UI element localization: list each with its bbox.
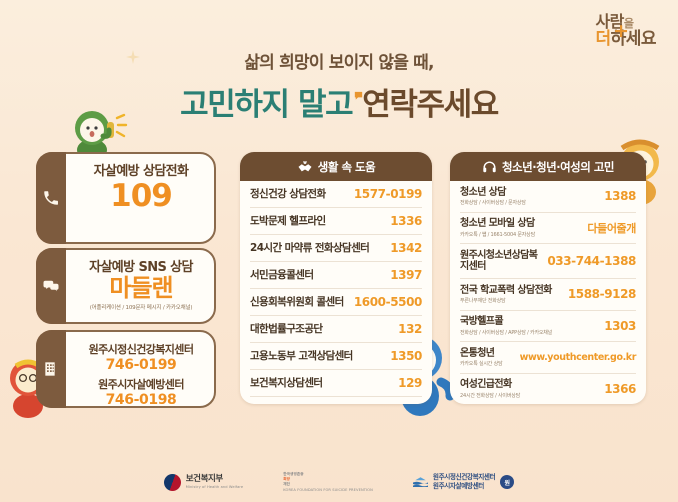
item-name: 원주시청소년상담복지센터 [460,250,541,273]
logo-name-post: 재단 [283,483,373,487]
item-name: 여성긴급전화 [460,379,520,391]
item-sub: 전화상담 / 사이버상담 / APP상담 / 카카오채널 [460,329,552,336]
card-wonju-centers[interactable]: 원주시정신건강복지센터 746-0199 원주시자살예방센터 746-0198 [36,330,216,408]
list-item[interactable]: 지역민원상담센터120 [250,397,422,404]
logo-name: 한국생명존중희망재단 [283,473,373,487]
item-name: 청소년 모바일 상담 [460,218,535,230]
center-phone-2: 746-0198 [76,392,206,408]
item-name: 국방헬프콜 [460,316,552,328]
infographic-poster: + 사람을 더하세요 삶의 희망이 보이지 않을 때, 고민하지 말고연락주세요 [0,0,678,502]
item-value: 다들어줄개 [587,220,636,236]
item-value: 1366 [604,382,636,396]
card-body: 원주시정신건강복지센터 746-0199 원주시자살예방센터 746-0198 [68,332,214,408]
item-value: 1303 [604,319,636,333]
card-title: 자살예방 SNS 상담 [76,256,206,275]
list-item[interactable]: 신용회복위원회 콜센터1600-5500 [250,289,422,316]
slogan: + 사람을 더하세요 [595,14,656,49]
handshake-icon [297,161,313,174]
item-value[interactable]: www.youthcenter.go.kr [520,352,636,363]
footer-logos: 보건복지부 Ministry of Health and Welfare 한국생… [0,472,678,492]
logo-name: 보건복지부 [186,475,244,484]
logo-sub: KOREA FOUNDATION FOR SUICIDE PREVENTION [283,488,373,492]
item-name: 온통청년 [460,348,502,360]
item-value: 1600-5500 [354,295,422,309]
item-value: 1350 [390,349,422,363]
list-item[interactable]: 여성긴급전화24시간 전화상담 / 사이버상담1366 [460,374,636,405]
chat-bubble-icon [42,277,60,295]
card-note: (어플리케이션 / 109문자 메시지 / 카카오채널) [76,303,206,311]
list-item[interactable]: 보건복지상담센터129 [250,370,422,397]
headline-subtitle: 삶의 희망이 보이지 않을 때, [0,48,678,73]
panel-daily-life-help: 생활 속 도움 정신건강 상담전화1577-0199 도박문제 헬프라인1336… [240,152,432,404]
panel-header-label: 생활 속 도움 [318,159,375,175]
item-sub: 전화상담 / 사이버상담 / 문자상담 [460,199,526,206]
card-suicide-hotline[interactable]: 자살예방 상담전화 109 [36,152,216,244]
item-sub: 카카오톡 실시간 상담 [460,360,502,367]
card-tab [36,248,66,324]
item-sub: 24시간 전화상담 / 사이버상담 [460,392,520,399]
phone-icon [42,189,60,207]
item-name: 고용노동부 고객상담센터 [250,350,353,362]
item-name: 전국 학교폭력 상담전화 [460,285,552,297]
item-name: 정신건강 상담전화 [250,188,326,200]
phone-accent-icon [353,90,364,101]
card-sns-counseling[interactable]: 자살예방 SNS 상담 마들랜 (어플리케이션 / 109문자 메시지 / 카카… [36,248,216,324]
item-sub: 푸른나무재단 전화상담 [460,297,552,304]
list-item[interactable]: 원주시청소년상담복지센터033-744-1388 [460,244,636,279]
panel-header: 청소년·청년·여성의 고민 [450,152,646,181]
logo-kfsp: 한국생명존중희망재단 KOREA FOUNDATION FOR SUICIDE … [283,472,373,492]
panel-header: 생활 속 도움 [240,152,432,181]
card-tab [36,330,66,408]
item-name: 도박문제 헬프라인 [250,215,326,227]
logo-mohw: 보건복지부 Ministry of Health and Welfare [164,474,244,491]
list-item[interactable]: 정신건강 상담전화1577-0199 [250,181,422,208]
item-value: 1588-9128 [568,287,636,301]
list-item[interactable]: 국방헬프콜전화상담 / 사이버상담 / APP상담 / 카카오채널1303 [460,311,636,343]
item-value: 1388 [604,189,636,203]
list-item[interactable]: 전국 학교폭력 상담전화푸른나무재단 전화상담1588-9128 [460,279,636,311]
headline-main-teal: 고민하지 말고 [180,87,352,123]
list-item[interactable]: 청소년 상담전화상담 / 사이버상담 / 문자상담1388 [460,181,636,213]
item-name: 24시간 마약류 전화상담센터 [250,242,369,254]
list-item[interactable]: 도박문제 헬프라인1336 [250,208,422,235]
sparkle-icon [126,50,140,64]
list-item[interactable]: 온통청년카카오톡 실시간 상담www.youthcenter.go.kr [460,342,636,374]
item-value: 120 [398,403,422,404]
logo-line-2: 원주시자살예방센터 [433,482,495,491]
logo-line-1: 원주시정신건강복지센터 [433,473,495,482]
center-name-1: 원주시정신건강복지센터 [76,341,206,357]
panel-header-label: 청소년·청년·여성의 고민 [502,159,614,175]
item-name: 신용회복위원회 콜센터 [250,296,344,308]
item-value: 1397 [390,268,422,282]
headset-icon [482,161,497,174]
item-value: 1577-0199 [354,187,422,201]
item-value: 033-744-1388 [547,254,636,268]
center-phone-1: 746-0199 [76,357,206,373]
item-value: 132 [398,322,422,336]
center-name-2: 원주시자살예방센터 [76,376,206,392]
list-item[interactable]: 청소년 모바일 상담카카오톡 / 썝 / 1661-5004 문자상담다들어줄개 [460,213,636,245]
list-item[interactable]: 고용노동부 고객상담센터1350 [250,343,422,370]
item-value: 129 [398,376,422,390]
slogan-word-deo: 더 [595,29,610,49]
item-value: 1342 [390,241,422,255]
list-item[interactable]: 24시간 마약류 전화상담센터1342 [250,235,422,262]
item-name: 청소년 상담 [460,187,526,199]
item-value: 1336 [390,214,422,228]
card-title: 자살예방 상담전화 [76,160,206,179]
logo-name-pre: 한국생명존중 [283,473,373,477]
card-brand-name: 마들랜 [76,276,206,301]
item-name: 보건복지상담센터 [250,377,322,389]
plus-icon: + [613,22,629,41]
headline-main-brown: 연락주세요 [362,87,498,123]
logo-wonju: 원주시정신건강복지센터 원주시자살예방센터 원 [413,473,514,491]
youth-help-list: 청소년 상담전화상담 / 사이버상담 / 문자상담1388 청소년 모바일 상담… [450,181,646,404]
building-icon [42,360,58,378]
item-name: 서민금융콜센터 [250,269,313,281]
logo-name-hope: 희망 [283,478,373,482]
wave-icon [413,477,428,488]
item-name: 대한법률구조공단 [250,323,322,335]
card-number: 109 [76,180,206,213]
card-tab [36,152,66,244]
card-body: 자살예방 SNS 상담 마들랜 (어플리케이션 / 109문자 메시지 / 카카… [68,250,214,311]
panel-youth-women-help: 청소년·청년·여성의 고민 청소년 상담전화상담 / 사이버상담 / 문자상담1… [450,152,646,404]
logo-sub: Ministry of Health and Welfare [186,485,244,489]
list-item[interactable]: 대한법률구조공단132 [250,316,422,343]
taegeuk-icon [164,474,181,491]
card-body: 자살예방 상담전화 109 [68,154,214,213]
item-sub: 카카오톡 / 썝 / 1661-5004 문자상담 [460,231,535,238]
wonju-badge-icon: 원 [500,475,514,489]
help-list: 정신건강 상담전화1577-0199 도박문제 헬프라인1336 24시간 마약… [240,181,432,404]
list-item[interactable]: 서민금융콜센터1397 [250,262,422,289]
